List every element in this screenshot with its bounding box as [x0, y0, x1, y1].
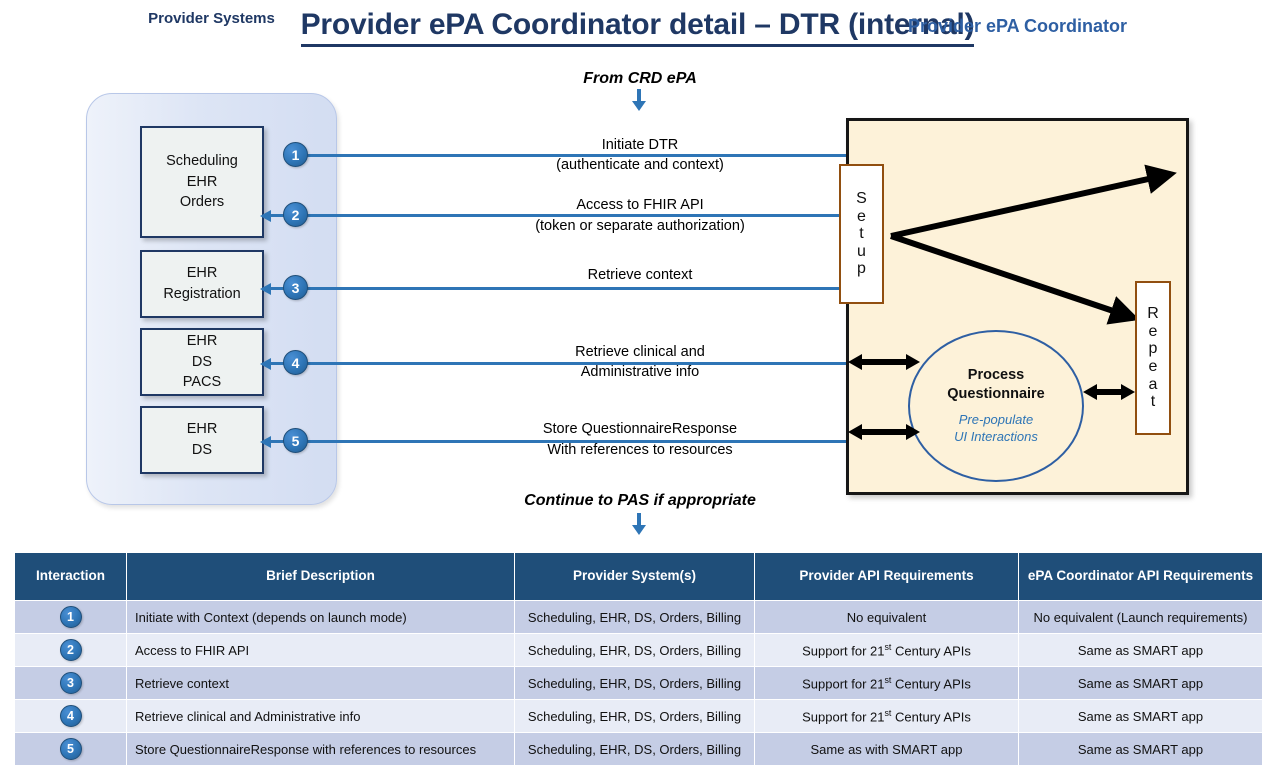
caption-from-crd-epa: From CRD ePA	[430, 70, 850, 88]
table-row[interactable]: 1Initiate with Context (depends on launc…	[15, 601, 1263, 634]
cell-epa-coordinator-api-requirements: Same as SMART app	[1019, 733, 1263, 765]
setup-box[interactable]: S e t u p	[839, 164, 884, 304]
cell-epa-coordinator-api-requirements: No equivalent (Launch requirements)	[1019, 601, 1263, 634]
cell-provider-systems: Scheduling, EHR, DS, Orders, Billing	[515, 700, 755, 733]
flow-label-5-bottom: With references to resources	[400, 441, 880, 461]
system-box-line: DS	[192, 352, 212, 373]
setup-letter: S	[856, 190, 867, 208]
coordinator-title: Provider ePA Coordinator	[846, 16, 1189, 37]
process-sub-line1: Pre-populate	[959, 412, 1033, 427]
flow-label-5-top: Store QuestionnaireResponse	[400, 420, 880, 440]
th-provider-systems[interactable]: Provider System(s)	[515, 553, 755, 601]
provider-systems-title: Provider Systems	[86, 10, 337, 27]
cell-provider-api-requirements: No equivalent	[755, 601, 1019, 634]
cell-provider-api-requirements: Same as with SMART app	[755, 733, 1019, 765]
flow-badge-4[interactable]: 4	[283, 350, 308, 375]
cell-epa-coordinator-api-requirements: Same as SMART app	[1019, 700, 1263, 733]
repeat-letter: e	[1149, 323, 1158, 341]
flow-label-3-top: Retrieve context	[400, 266, 880, 286]
table-badge: 1	[60, 606, 82, 628]
setup-letter: u	[857, 243, 866, 261]
repeat-letter: p	[1149, 340, 1158, 358]
cell-brief-description: Store QuestionnaireResponse with referen…	[127, 733, 515, 765]
table-badge: 4	[60, 705, 82, 727]
flow-badge-3[interactable]: 3	[283, 275, 308, 300]
table-body: 1Initiate with Context (depends on launc…	[15, 601, 1263, 765]
table-badge: 2	[60, 639, 82, 661]
table-row[interactable]: 2Access to FHIR APIScheduling, EHR, DS, …	[15, 634, 1263, 667]
cell-epa-coordinator-api-requirements: Same as SMART app	[1019, 634, 1263, 667]
system-box-ehr-ds[interactable]: EHR DS	[140, 406, 264, 474]
flow-label-2-top: Access to FHIR API	[400, 196, 880, 216]
cell-interaction: 4	[15, 700, 127, 733]
setup-letter: p	[857, 260, 866, 278]
cell-brief-description: Retrieve clinical and Administrative inf…	[127, 700, 515, 733]
table-header-row: Interaction Brief Description Provider S…	[15, 553, 1263, 601]
cell-interaction: 1	[15, 601, 127, 634]
system-box-line: PACS	[183, 372, 221, 393]
cell-interaction: 2	[15, 634, 127, 667]
table-badge: 5	[60, 738, 82, 760]
repeat-letter: a	[1149, 376, 1158, 394]
caption-continue-to-pas: Continue to PAS if appropriate	[420, 492, 860, 510]
cell-provider-api-requirements: Support for 21st Century APIs	[755, 667, 1019, 700]
system-box-ehr-ds-pacs[interactable]: EHR DS PACS	[140, 328, 264, 396]
flow-label-1-bottom: (authenticate and context)	[400, 156, 880, 176]
system-box-line: Orders	[180, 192, 224, 213]
cell-interaction: 5	[15, 733, 127, 765]
slide-canvas: Provider ePA Coordinator detail – DTR (i…	[0, 0, 1275, 765]
system-box-ehr-registration[interactable]: EHR Registration	[140, 250, 264, 318]
system-box-line: EHR	[187, 419, 218, 440]
process-sub-line2: UI Interactions	[954, 429, 1038, 444]
repeat-letter: e	[1149, 358, 1158, 376]
system-box-scheduling-ehr-orders[interactable]: Scheduling EHR Orders	[140, 126, 264, 238]
process-title-line1: Process	[968, 367, 1024, 383]
process-title-line2: Questionnaire	[947, 386, 1045, 402]
interactions-table: Interaction Brief Description Provider S…	[14, 552, 1263, 765]
setup-letter: t	[859, 225, 863, 243]
cell-brief-description: Retrieve context	[127, 667, 515, 700]
th-brief-description[interactable]: Brief Description	[127, 553, 515, 601]
th-epa-coordinator-api-requirements[interactable]: ePA Coordinator API Requirements	[1019, 553, 1263, 601]
cell-provider-systems: Scheduling, EHR, DS, Orders, Billing	[515, 601, 755, 634]
process-questionnaire-node[interactable]: Process Questionnaire Pre-populate UI In…	[908, 330, 1084, 482]
system-box-line: EHR	[187, 172, 218, 193]
flow-badge-1[interactable]: 1	[283, 142, 308, 167]
cell-provider-systems: Scheduling, EHR, DS, Orders, Billing	[515, 634, 755, 667]
flow-label-4-bottom: Administrative info	[400, 363, 880, 383]
cell-provider-api-requirements: Support for 21st Century APIs	[755, 634, 1019, 667]
repeat-box[interactable]: R e p e a t	[1135, 281, 1171, 435]
table-row[interactable]: 5Store QuestionnaireResponse with refere…	[15, 733, 1263, 765]
flow-badge-5[interactable]: 5	[283, 428, 308, 453]
setup-letter: e	[857, 208, 866, 226]
table-badge: 3	[60, 672, 82, 694]
system-box-line: EHR	[187, 263, 218, 284]
table-row[interactable]: 4Retrieve clinical and Administrative in…	[15, 700, 1263, 733]
flow-label-4-top: Retrieve clinical and	[400, 343, 880, 363]
cell-epa-coordinator-api-requirements: Same as SMART app	[1019, 667, 1263, 700]
system-box-line: Scheduling	[166, 151, 238, 172]
table-row[interactable]: 3Retrieve contextScheduling, EHR, DS, Or…	[15, 667, 1263, 700]
th-provider-api-requirements[interactable]: Provider API Requirements	[755, 553, 1019, 601]
repeat-letter: t	[1151, 393, 1155, 411]
repeat-letter: R	[1147, 305, 1159, 323]
cell-brief-description: Initiate with Context (depends on launch…	[127, 601, 515, 634]
flow-badge-2[interactable]: 2	[283, 202, 308, 227]
th-interaction[interactable]: Interaction	[15, 553, 127, 601]
cell-provider-systems: Scheduling, EHR, DS, Orders, Billing	[515, 667, 755, 700]
system-box-line: DS	[192, 440, 212, 461]
flow-label-2-bottom: (token or separate authorization)	[400, 217, 880, 237]
cell-provider-systems: Scheduling, EHR, DS, Orders, Billing	[515, 733, 755, 765]
cell-provider-api-requirements: Support for 21st Century APIs	[755, 700, 1019, 733]
system-box-line: EHR	[187, 331, 218, 352]
system-box-line: Registration	[163, 284, 240, 305]
cell-brief-description: Access to FHIR API	[127, 634, 515, 667]
cell-interaction: 3	[15, 667, 127, 700]
flow-label-1-top: Initiate DTR	[400, 136, 880, 156]
